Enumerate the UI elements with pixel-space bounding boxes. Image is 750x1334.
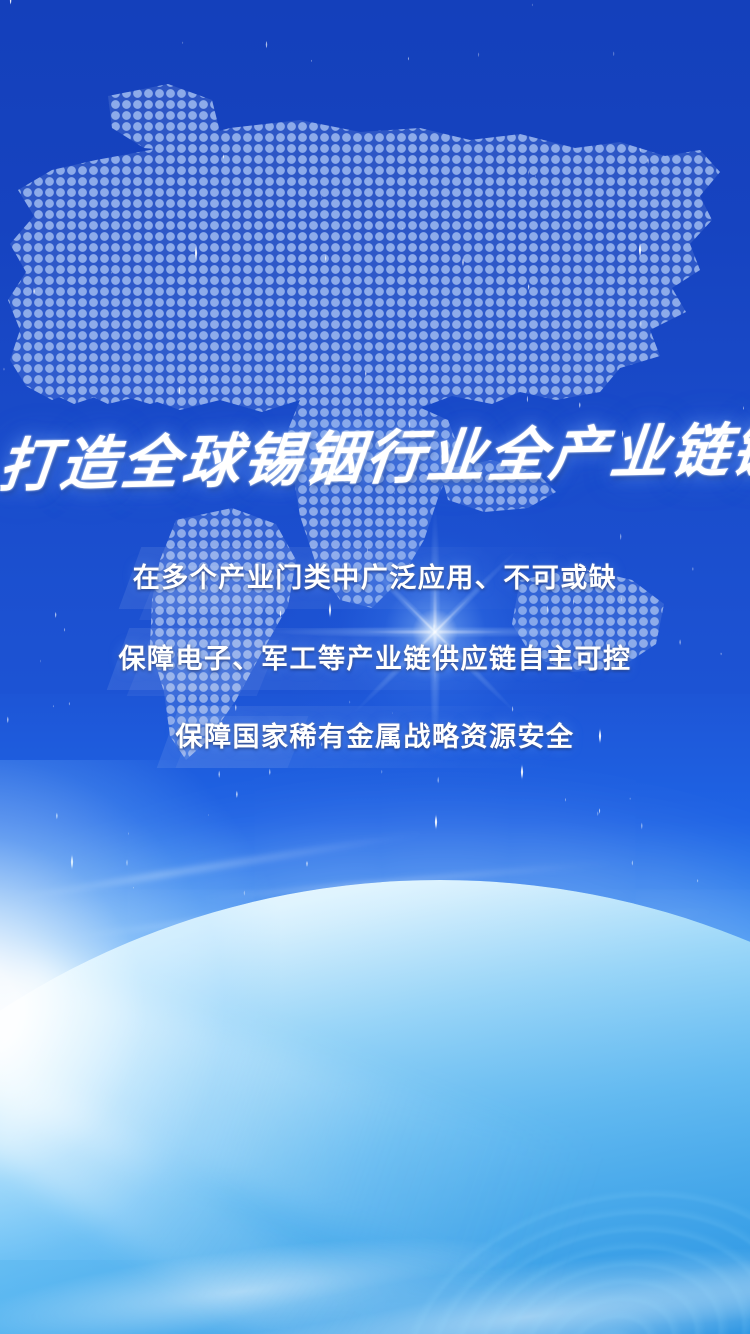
subtitle-row-1: 在多个产业门类中广泛应用、不可或缺 xyxy=(0,547,750,609)
subtitle-row-2: 保障电子、军工等产业链供应链自主可控 xyxy=(0,628,750,690)
subtitle-text-1: 在多个产业门类中广泛应用、不可或缺 xyxy=(0,547,750,609)
subtitle-text-3: 保障国家稀有金属战略资源安全 xyxy=(0,706,750,768)
subtitle-row-3: 保障国家稀有金属战略资源安全 xyxy=(0,706,750,768)
poster-title: 打造全球锡铟行业全产业链链主 xyxy=(0,419,750,495)
poster-canvas: 打造全球锡铟行业全产业链链主 在多个产业门类中广泛应用、不可或缺 保障电子、军工… xyxy=(0,0,750,1334)
poster-title-text: 打造全球锡铟行业全产业链链主 xyxy=(0,410,750,504)
subtitle-text-2: 保障电子、军工等产业链供应链自主可控 xyxy=(0,628,750,690)
earth-globe xyxy=(0,880,750,1334)
